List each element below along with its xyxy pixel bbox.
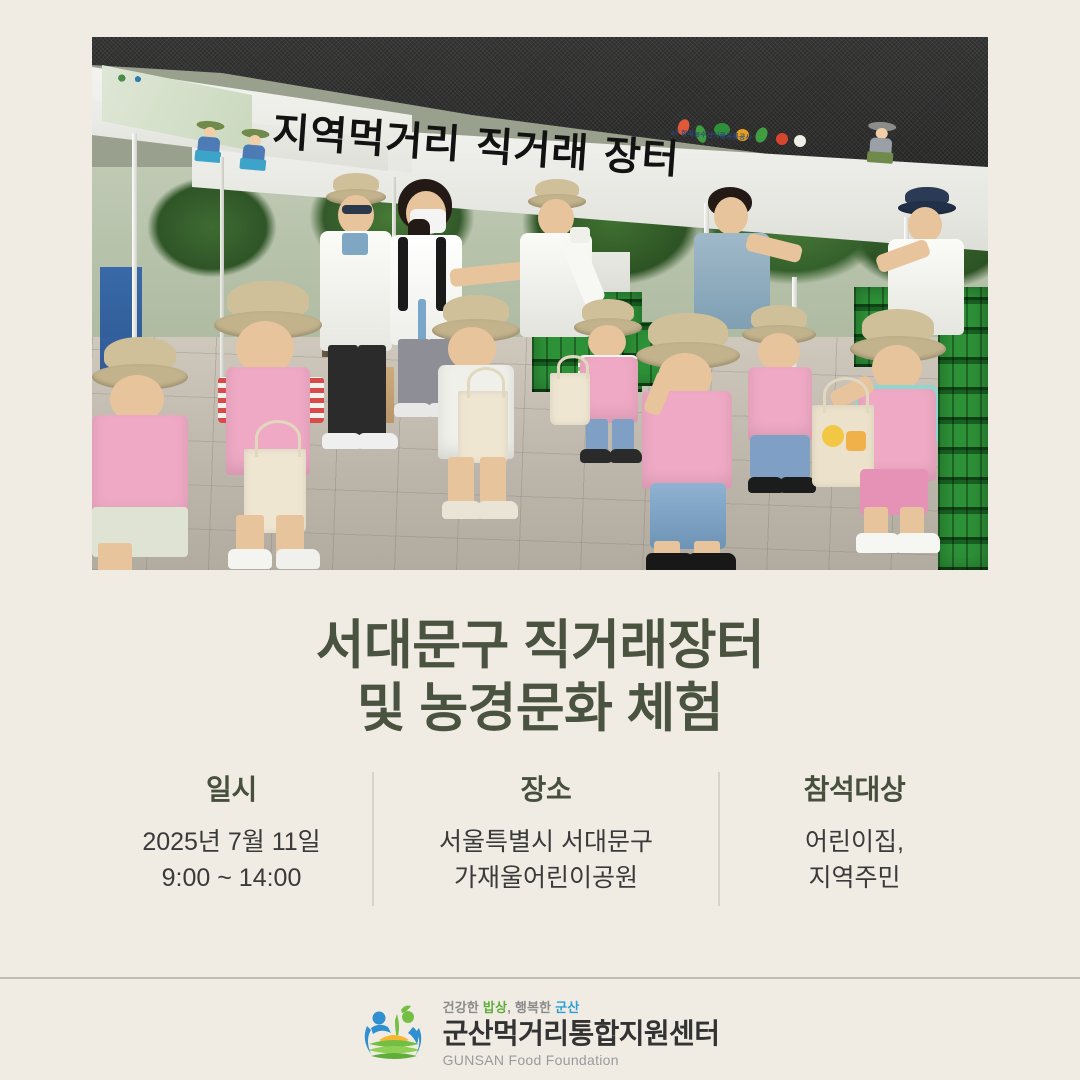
footer-brand-name: 군산먹거리통합지원센터 <box>443 1018 720 1050</box>
info-value-participants-line2: 지역주민 <box>719 860 990 896</box>
tagline-part-4: 군산 <box>555 1000 579 1015</box>
photo-child <box>200 281 340 570</box>
info-column-date: 일시 2025년 7월 11일 9:00 ~ 14:00 <box>90 768 373 896</box>
info-columns: 일시 2025년 7월 11일 9:00 ~ 14:00 장소 서울특별시 서대… <box>90 768 990 910</box>
info-column-location: 장소 서울특별시 서대문구 가재울어린이공원 <box>373 768 719 896</box>
photo-tent-pole <box>132 133 137 363</box>
footer-logo-block: 건강한 밥상, 행복한 군산 군산먹거리통합지원센터 GUNSAN Food F… <box>0 985 1080 1080</box>
tagline-part-3: , 행복한 <box>507 1000 555 1015</box>
info-value-location-line2: 가재울어린이공원 <box>373 860 719 896</box>
page-title: 서대문구 직거래장터 및 농경문화 체험 <box>0 614 1080 740</box>
info-value-location-line1: 서울특별시 서대문구 <box>373 824 719 860</box>
info-value-date-line2: 9:00 ~ 14:00 <box>90 860 373 896</box>
photo-child <box>92 337 202 570</box>
photo-tote-bag <box>458 391 508 463</box>
info-value-date-line1: 2025년 7월 11일 <box>90 824 373 860</box>
photo-child <box>834 309 958 561</box>
gunsan-food-foundation-emblem-icon <box>361 1000 427 1066</box>
column-divider <box>372 772 374 906</box>
info-heading-date: 일시 <box>90 768 373 808</box>
tagline-part-2: 밥상 <box>483 1000 507 1015</box>
title-line-1: 서대문구 직거래장터 <box>0 614 1080 677</box>
event-photo: 지역먹거리 직거래 장터 aT 한국농수산식품유통공사 <box>92 37 988 570</box>
info-column-participants: 참석대상 어린이집, 지역주민 <box>719 768 990 896</box>
footer-tagline: 건강한 밥상, 행복한 군산 <box>443 997 720 1016</box>
photo-farmer-illustration <box>235 128 273 175</box>
info-value-participants-line1: 어린이집, <box>719 824 990 860</box>
poster-root: 지역먹거리 직거래 장터 aT 한국농수산식품유통공사 <box>0 0 1080 1080</box>
info-heading-location: 장소 <box>373 768 719 808</box>
tagline-part-1: 건강한 <box>443 1000 483 1015</box>
title-line-2: 및 농경문화 체험 <box>0 677 1080 740</box>
info-heading-participants: 참석대상 <box>719 768 990 808</box>
footer-divider <box>0 977 1080 979</box>
photo-child <box>422 295 532 545</box>
footer-logo-text: 건강한 밥상, 행복한 군산 군산먹거리통합지원센터 GUNSAN Food F… <box>443 997 720 1068</box>
photo-tote-bag <box>550 373 590 425</box>
column-divider <box>718 772 720 906</box>
footer-brand-subtitle: GUNSAN Food Foundation <box>443 1052 720 1068</box>
